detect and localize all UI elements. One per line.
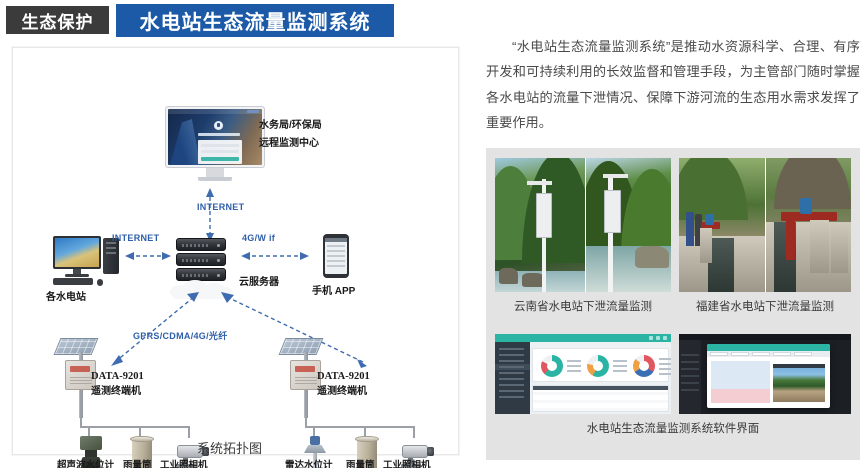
photo-caption-2: 水电站生态流量监测系统软件界面	[495, 420, 851, 436]
mobile-app-icon	[323, 234, 349, 278]
label-sensor-right-2: 工业照相机	[383, 460, 431, 468]
link-internet-left	[125, 248, 171, 264]
photo-fujian-monitoring	[679, 158, 851, 292]
link-wireless-right	[241, 248, 309, 264]
label-rtu-left-name: 遥测终端机	[91, 385, 141, 399]
photo-caption-0: 云南省水电站下泄流量监测	[495, 298, 671, 314]
label-monitor-center-line2: 远程监测中心	[259, 137, 319, 151]
photo-software-detail-view	[679, 334, 851, 414]
label-rtu-left-model: DATA-9201	[91, 370, 144, 384]
link-label-internet-up: INTERNET	[197, 201, 244, 213]
photo-gallery-panel: 云南省水电站下泄流量监测	[486, 148, 860, 460]
photo-software-dashboard	[495, 334, 671, 414]
system-topology-diagram: 水务局/环保局 远程监测中心 INTERNET 各水电站	[12, 47, 459, 455]
intro-paragraph: “水电站生态流量监测系统”是推动水资源科学、合理、有序开发和可持续利用的长效监督…	[486, 34, 860, 135]
label-sensor-right-1: 雨量筒	[346, 460, 375, 468]
link-label-wireless: 4G/W if	[242, 232, 275, 244]
category-tag: 生态保护	[6, 6, 109, 34]
link-internet-vertical	[193, 188, 233, 242]
label-sensor-left-1: 雨量筒	[123, 460, 152, 468]
label-monitor-center-line1: 水务局/环保局	[259, 119, 322, 133]
label-sensor-left-2: 工业照相机	[160, 460, 208, 468]
control-center-monitor-icon	[165, 106, 265, 181]
label-sensor-right-0: 雷达水位计	[285, 460, 333, 468]
photo-yunnan-monitoring	[495, 158, 671, 292]
label-sensor-left-0: 超声波水位计	[57, 460, 114, 468]
link-label-internet-left: INTERNET	[112, 232, 159, 244]
diagram-caption: 系统拓扑图	[0, 438, 459, 457]
brochure-page: 生态保护 水电站生态流量监测系统	[0, 0, 866, 468]
page-title: 水电站生态流量监测系统	[116, 4, 394, 37]
label-rtu-right-model: DATA-9201	[317, 370, 370, 384]
photo-caption-1: 福建省水电站下泄流量监测	[679, 298, 851, 314]
label-rtu-right-name: 遥测终端机	[317, 385, 367, 399]
